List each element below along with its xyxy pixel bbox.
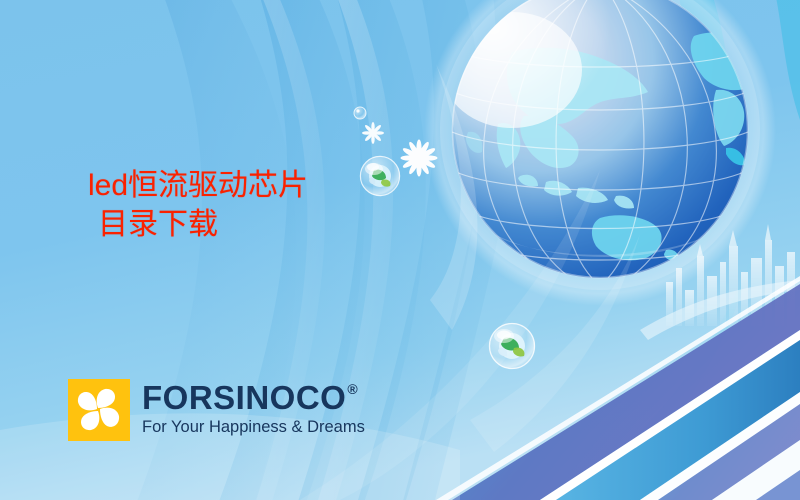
four-petal-pinwheel-icon (68, 379, 130, 441)
poster-canvas: led恒流驱动芯片 目录下载 FORSINOCO ® For Your Happ… (0, 0, 800, 500)
logo-wordmark: FORSINOCO ® For Your Happiness & Dreams (142, 379, 365, 436)
bubble-globe-icon (360, 156, 400, 196)
brand-tagline: For Your Happiness & Dreams (142, 419, 365, 436)
starburst-icon (362, 122, 384, 144)
headline-line-2: 目录下载 (88, 205, 308, 244)
headline-line-1: led恒流驱动芯片 (88, 169, 308, 202)
page-title: led恒流驱动芯片 目录下载 (88, 166, 308, 244)
bubble-globe-icon (489, 323, 535, 369)
brand-logo[interactable]: FORSINOCO ® For Your Happiness & Dreams (68, 379, 365, 441)
registered-trademark-icon: ® (347, 382, 358, 396)
bubble-outline-icon (354, 107, 366, 119)
brand-name: FORSINOCO ® (142, 381, 365, 414)
brand-name-text: FORSINOCO (142, 381, 346, 414)
